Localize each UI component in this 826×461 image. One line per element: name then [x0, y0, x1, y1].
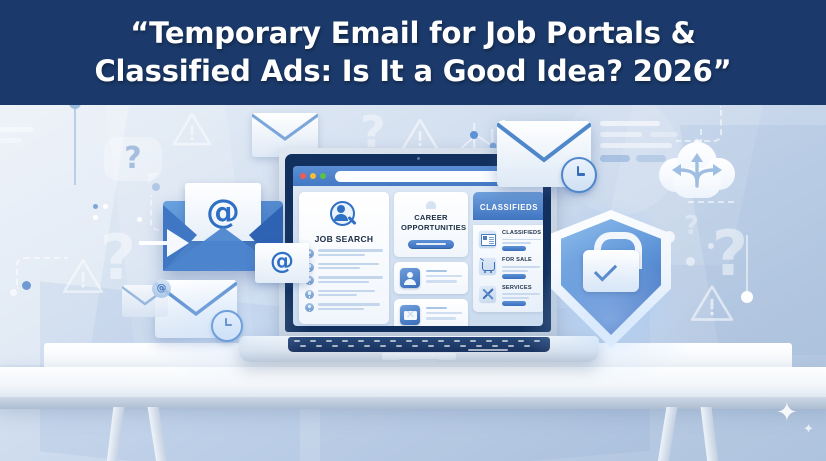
job-search-card[interactable]: JOB SEARCH [299, 192, 389, 324]
career-title-line1: CAREER [401, 213, 461, 223]
career-title-line2: OPPORTUNITIES [401, 223, 461, 233]
header-banner: “Temporary Email for Job Portals & Class… [0, 0, 826, 105]
accent-dot [708, 243, 714, 249]
at-symbol-glyph: @ [270, 247, 294, 275]
page-title-line1: “Temporary Email for Job Portals & [130, 16, 696, 50]
warning-triangle-topright [172, 111, 212, 147]
newspaper-icon [478, 230, 497, 249]
shopping-cart-icon [478, 257, 497, 276]
ambient-glow [520, 255, 700, 385]
accent-dot [22, 281, 31, 290]
ambient-glow [140, 265, 310, 385]
bg-placeholder-lines [650, 132, 678, 137]
sparkle-glint: ✦ [776, 397, 798, 428]
warning-triangle-left [62, 257, 104, 295]
cloud-decision-arrows [655, 138, 739, 204]
timed-envelope-right [497, 121, 591, 187]
envelope-icon [400, 305, 420, 325]
profile-list-item[interactable] [394, 262, 468, 294]
career-opportunities-card[interactable]: CAREER OPPORTUNITIES [394, 192, 468, 257]
browser-page: JOB SEARCH [293, 186, 543, 326]
classifieds-row-button[interactable] [502, 274, 526, 279]
maximize-traffic-light[interactable] [320, 173, 326, 179]
classifieds-row-button[interactable] [502, 246, 526, 251]
minimize-traffic-light[interactable] [310, 173, 316, 179]
sparkle-glint-small: ✦ [803, 421, 814, 437]
clock-badge-icon [561, 157, 597, 193]
pin-line-left [68, 105, 82, 193]
person-icon [400, 268, 420, 288]
classifieds-panel-header: CLASSIFIEDS [473, 192, 543, 220]
question-mark-small-right: ? [684, 213, 699, 239]
accent-dot [103, 204, 108, 209]
bubble-dot [152, 183, 160, 191]
bg-placeholder-chip [600, 155, 630, 162]
job-list-item[interactable] [305, 249, 383, 258]
desk-leg-right [658, 407, 678, 461]
accent-dot [93, 204, 98, 209]
bg-placeholder-lines [600, 121, 660, 126]
bg-placeholder-lines [600, 132, 642, 137]
briefcase-icon [426, 201, 436, 209]
webcam-icon [417, 157, 420, 160]
avatar-icon [305, 290, 314, 299]
dashed-connector [676, 106, 722, 142]
page-title-line2: Classified Ads: Is It a Good Idea? 2026” [94, 53, 731, 90]
bg-placeholder-lines [0, 138, 22, 143]
pin-line-right [740, 235, 754, 305]
classifieds-header-label: CLASSIFIEDS [480, 203, 538, 212]
classifieds-row-label: FOR SALE [502, 257, 540, 263]
job-list-item[interactable] [305, 290, 383, 299]
accent-dot [686, 257, 695, 266]
classifieds-row-for-sale[interactable]: FOR SALE [478, 257, 540, 278]
arrow-icon [137, 219, 197, 263]
page-title: “Temporary Email for Job Portals & Class… [54, 15, 771, 89]
person-in-magnifier-icon [329, 201, 359, 231]
browser-window: JOB SEARCH [293, 166, 543, 326]
job-search-title: JOB SEARCH [305, 234, 383, 244]
column-job-search: JOB SEARCH [299, 192, 389, 320]
column-career: CAREER OPPORTUNITIES [394, 192, 468, 320]
classifieds-row-classifieds[interactable]: CLASSIFIEDS [478, 230, 540, 251]
screenshot-root: “Temporary Email for Job Portals & Class… [0, 0, 826, 461]
bg-placeholder-lines [0, 127, 34, 132]
career-apply-button[interactable] [408, 240, 454, 249]
accent-dot [93, 215, 98, 220]
job-list-item[interactable] [305, 276, 383, 285]
message-list-item[interactable] [394, 299, 468, 327]
job-list-item[interactable] [305, 263, 383, 272]
tools-icon [478, 285, 497, 304]
three-arrows-icon [655, 138, 739, 204]
illustration-scene: ? ? ? ? ? [0, 105, 826, 461]
job-list-item[interactable] [305, 303, 383, 312]
accent-dot [10, 289, 17, 296]
laptop-notch [399, 359, 439, 362]
question-mark-large-left: ? [100, 227, 136, 289]
classifieds-row-label: CLASSIFIEDS [502, 230, 541, 236]
laptop-keyboard [288, 337, 550, 352]
desk-leg-right [701, 407, 719, 461]
close-traffic-light[interactable] [300, 173, 306, 179]
